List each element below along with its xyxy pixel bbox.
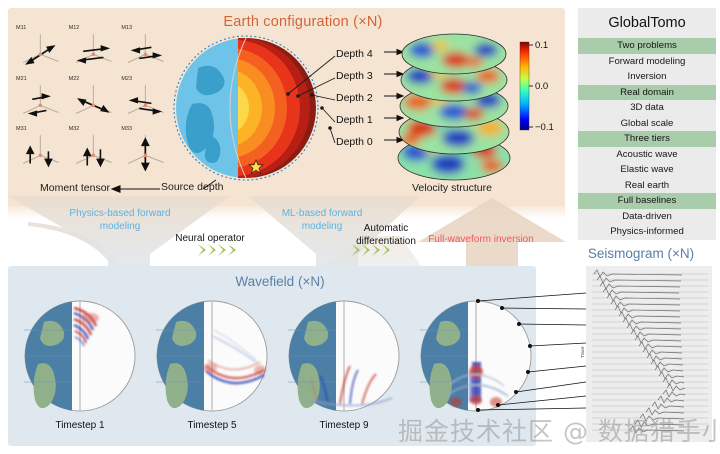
globaltomo-row: Forward modeling: [578, 54, 716, 70]
globaltomo-row: Three tiers: [578, 131, 716, 147]
wavefield-globe-3: [288, 301, 399, 411]
moment-tensor-cell: M31: [14, 125, 67, 176]
globaltomo-row: Global scale: [578, 116, 716, 132]
globaltomo-row: 3D data: [578, 100, 716, 116]
globaltomo-row: Data-driven: [578, 209, 716, 225]
moment-tensor-caption: Moment tensor: [40, 182, 110, 194]
moment-tensor-cell: M13: [119, 24, 172, 75]
moment-tensor-cell: M33: [119, 125, 172, 176]
timestep-caption-1: Timestep 1: [35, 420, 125, 431]
globaltomo-row: Physics-informed: [578, 224, 716, 240]
moment-tensor-cell: M21: [14, 75, 67, 126]
moment-tensor-icon: [67, 24, 120, 75]
chevron-green-icon: [198, 244, 236, 256]
depth-label-1: Depth 1: [336, 114, 373, 126]
figure-root: Earth configuration (×N) M11 M12: [0, 0, 720, 454]
velocity-colorbar: 0.1 0.0 −0.1: [516, 36, 562, 138]
moment-tensor-icon: [14, 125, 67, 176]
colorbar-tick-mid: 0.0: [535, 81, 548, 92]
velocity-structure-caption: Velocity structure: [412, 182, 492, 194]
seismogram-axis-label: Trace: [580, 346, 585, 358]
colorbar-tick-max: 0.1: [535, 40, 548, 51]
seismogram-wiggles: [594, 270, 685, 433]
neural-operator-label: Neural operator: [150, 233, 270, 244]
moment-tensor-icon: [67, 125, 120, 176]
depth-label-0: Depth 0: [336, 136, 373, 148]
velocity-structure-stack: [396, 24, 512, 184]
seismogram-title: Seismogram (×N): [566, 246, 716, 261]
watermark: 掘金技术社区 @ 数据猎手小K: [398, 412, 720, 448]
full-waveform-inversion-label: Full-waveform inversion: [426, 233, 536, 246]
globaltomo-row: Inversion: [578, 69, 716, 85]
globaltomo-row: Two problems: [578, 38, 716, 54]
globaltomo-row: Acoustic wave: [578, 147, 716, 163]
depth-label-2: Depth 2: [336, 92, 373, 104]
moment-tensor-cell: M23: [119, 75, 172, 126]
physics-based-label: Physics-based forward modeling: [60, 207, 180, 233]
depth-label-3: Depth 3: [336, 70, 373, 82]
moment-tensor-cell: M22: [67, 75, 120, 126]
globaltomo-row: Real earth: [578, 178, 716, 194]
wavefield-globe-2: [156, 301, 267, 411]
seismogram-baselines: [592, 274, 708, 430]
moment-tensor-icon: [119, 24, 172, 75]
wavefield-globes: [20, 296, 540, 416]
globaltomo-title: GlobalTomo: [578, 8, 716, 38]
depth-label-4: Depth 4: [336, 48, 373, 60]
globaltomo-row: Real domain: [578, 85, 716, 101]
moment-tensor-icon: [119, 125, 172, 176]
moment-tensor-icon: [67, 75, 120, 126]
globaltomo-row: Full baselines: [578, 193, 716, 209]
moment-tensor-icon: [119, 75, 172, 126]
globaltomo-row: Elastic wave: [578, 162, 716, 178]
moment-tensor-icon: [14, 75, 67, 126]
moment-tensor-grid: M11 M12: [14, 24, 172, 176]
moment-tensor-cell: M32: [67, 125, 120, 176]
moment-tensor-cell: M11: [14, 24, 67, 75]
timestep-caption-2: Timestep 5: [167, 420, 257, 431]
wavefield-globe-1: [24, 301, 135, 411]
wavefield-globe-4: [420, 299, 532, 412]
moment-tensor-icon: [14, 24, 67, 75]
moment-tensor-cell: M12: [67, 24, 120, 75]
automatic-differentiation-label: Automatic differentiation: [337, 222, 435, 248]
colorbar-tick-min: −0.1: [535, 122, 554, 133]
globaltomo-table: GlobalTomo Two problems Forward modeling…: [578, 8, 716, 240]
timestep-caption-3: Timestep 9: [299, 420, 389, 431]
wavefield-title: Wavefield (×N): [180, 274, 380, 289]
